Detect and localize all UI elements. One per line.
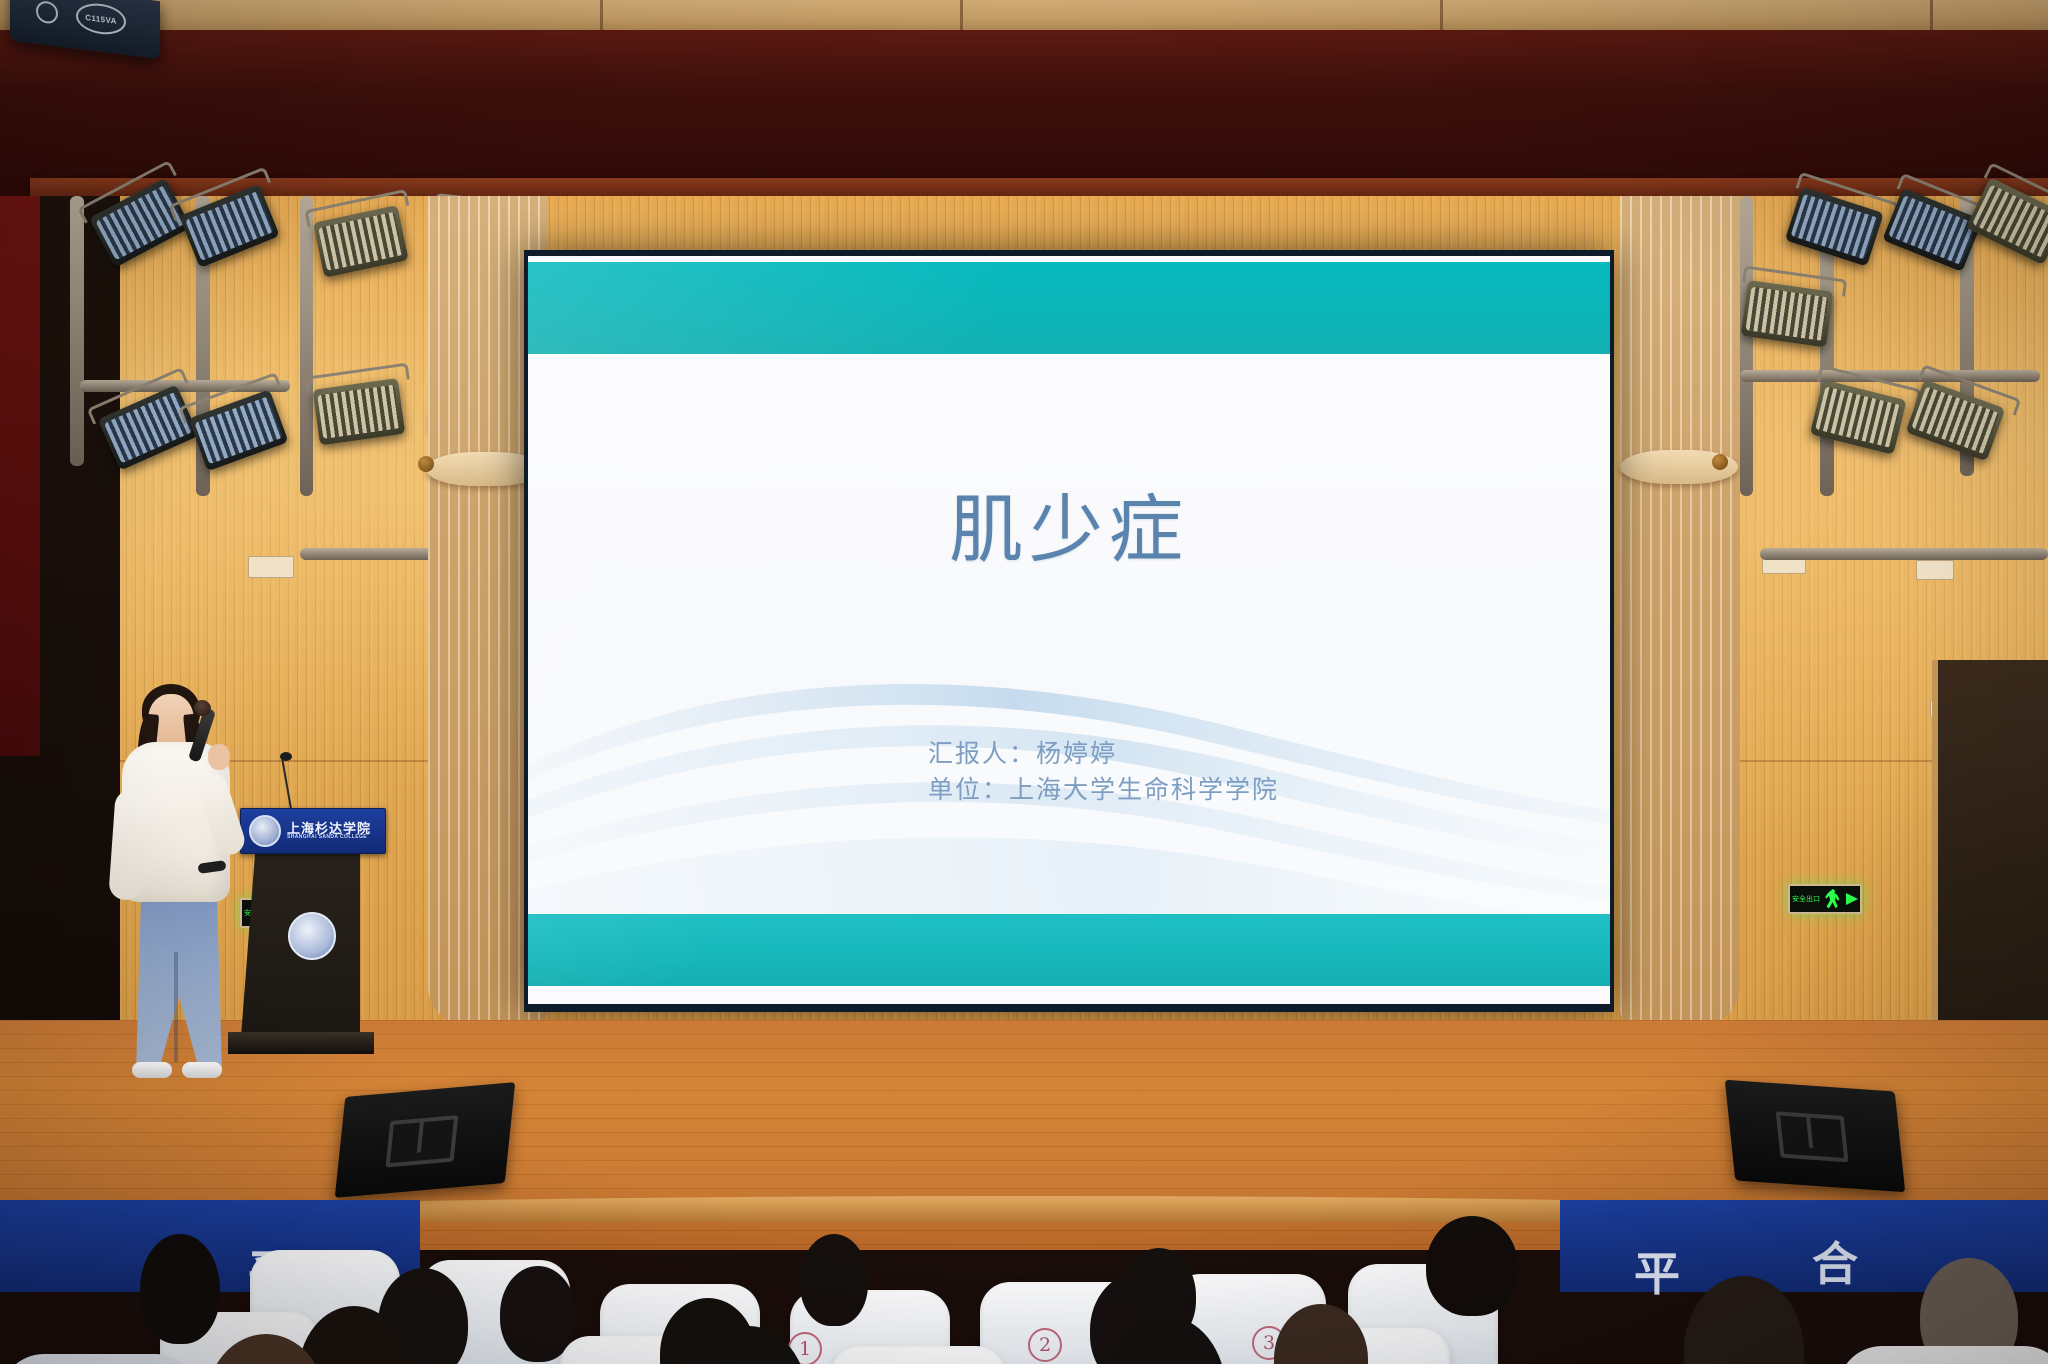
audience-head [800, 1234, 868, 1326]
stage-curtain-right [1620, 196, 1740, 1026]
speaker-horn-icon [1776, 1111, 1849, 1162]
curtain-knob-right [1712, 454, 1728, 470]
stage-monitor-speaker-right [1725, 1080, 1906, 1193]
podium-institution-en: SHANGHAI SANDA COLLEGE [287, 835, 371, 840]
podium-nameplate-text: 上海杉达学院 SHANGHAI SANDA COLLEGE [287, 822, 371, 840]
light-lens-icon [317, 385, 400, 439]
truss-vertical-pipe [1740, 196, 1753, 496]
audience-head [140, 1234, 220, 1344]
audience-shoulders [0, 1354, 200, 1364]
university-seal-icon [249, 815, 281, 847]
exit-sign-right: 安全出口 [1788, 884, 1862, 914]
stage-light-par [1741, 280, 1834, 347]
audience-head [1684, 1276, 1804, 1364]
speaker-model-badge: C115VA [76, 1, 126, 37]
audience-head [1426, 1216, 1518, 1316]
slide-top-accent-bar [528, 262, 1610, 354]
truss-vertical-pipe [70, 196, 84, 466]
presenter-hand [208, 744, 230, 770]
presenter-shoe [182, 1062, 222, 1078]
wall-plate [1916, 560, 1954, 580]
audience-shoulders [1838, 1346, 2048, 1364]
red-side-drape [0, 196, 40, 756]
exit-sign-label: 安全出口 [1792, 896, 1820, 903]
truss-horizontal-pipe [1760, 548, 2048, 560]
presentation-slide: 肌少症 汇报人：杨婷婷 单位：上海大学生命科学学院 [528, 256, 1610, 1004]
slide-presenter-line: 汇报人：杨婷婷 [928, 736, 1279, 772]
truss-horizontal-pipe [1740, 370, 2040, 382]
podium-nameplate: 上海杉达学院 SHANGHAI SANDA COLLEGE [240, 808, 386, 854]
slide-bottom-accent-bar [528, 914, 1610, 986]
arrow-right-icon [1846, 893, 1858, 905]
speaker-horn-icon [385, 1115, 458, 1167]
podium-microphone-icon [280, 752, 292, 761]
slide-affiliation-line: 单位：上海大学生命科学学院 [928, 772, 1279, 808]
truss-vertical-pipe [300, 196, 313, 496]
stage-light-par [312, 378, 405, 445]
auditorium-stage-photo: C115VA [0, 0, 2048, 1364]
podium-base [228, 1032, 374, 1054]
audience-chair[interactable] [830, 1346, 1006, 1364]
presenter-leg-gap [174, 952, 178, 1062]
curtain-knob-left [418, 456, 434, 472]
audience-area: 1 2 3 8 6 4 [0, 1186, 2048, 1364]
side-door[interactable] [1932, 660, 2048, 1040]
slide-subtitle: 汇报人：杨婷婷 单位：上海大学生命科学学院 [928, 736, 1279, 809]
running-man-icon [1824, 889, 1842, 909]
podium-front-emblem-icon [288, 912, 336, 960]
wall-plate [248, 556, 294, 578]
light-lens-icon [1745, 287, 1828, 341]
presenter-shoe [132, 1062, 172, 1078]
chair-number: 2 [1028, 1328, 1062, 1362]
yamaha-logo-icon [36, 0, 58, 25]
slide-content-area [528, 354, 1610, 914]
stage-monitor-speaker-left [335, 1082, 516, 1198]
slide-title: 肌少症 [528, 470, 1610, 577]
